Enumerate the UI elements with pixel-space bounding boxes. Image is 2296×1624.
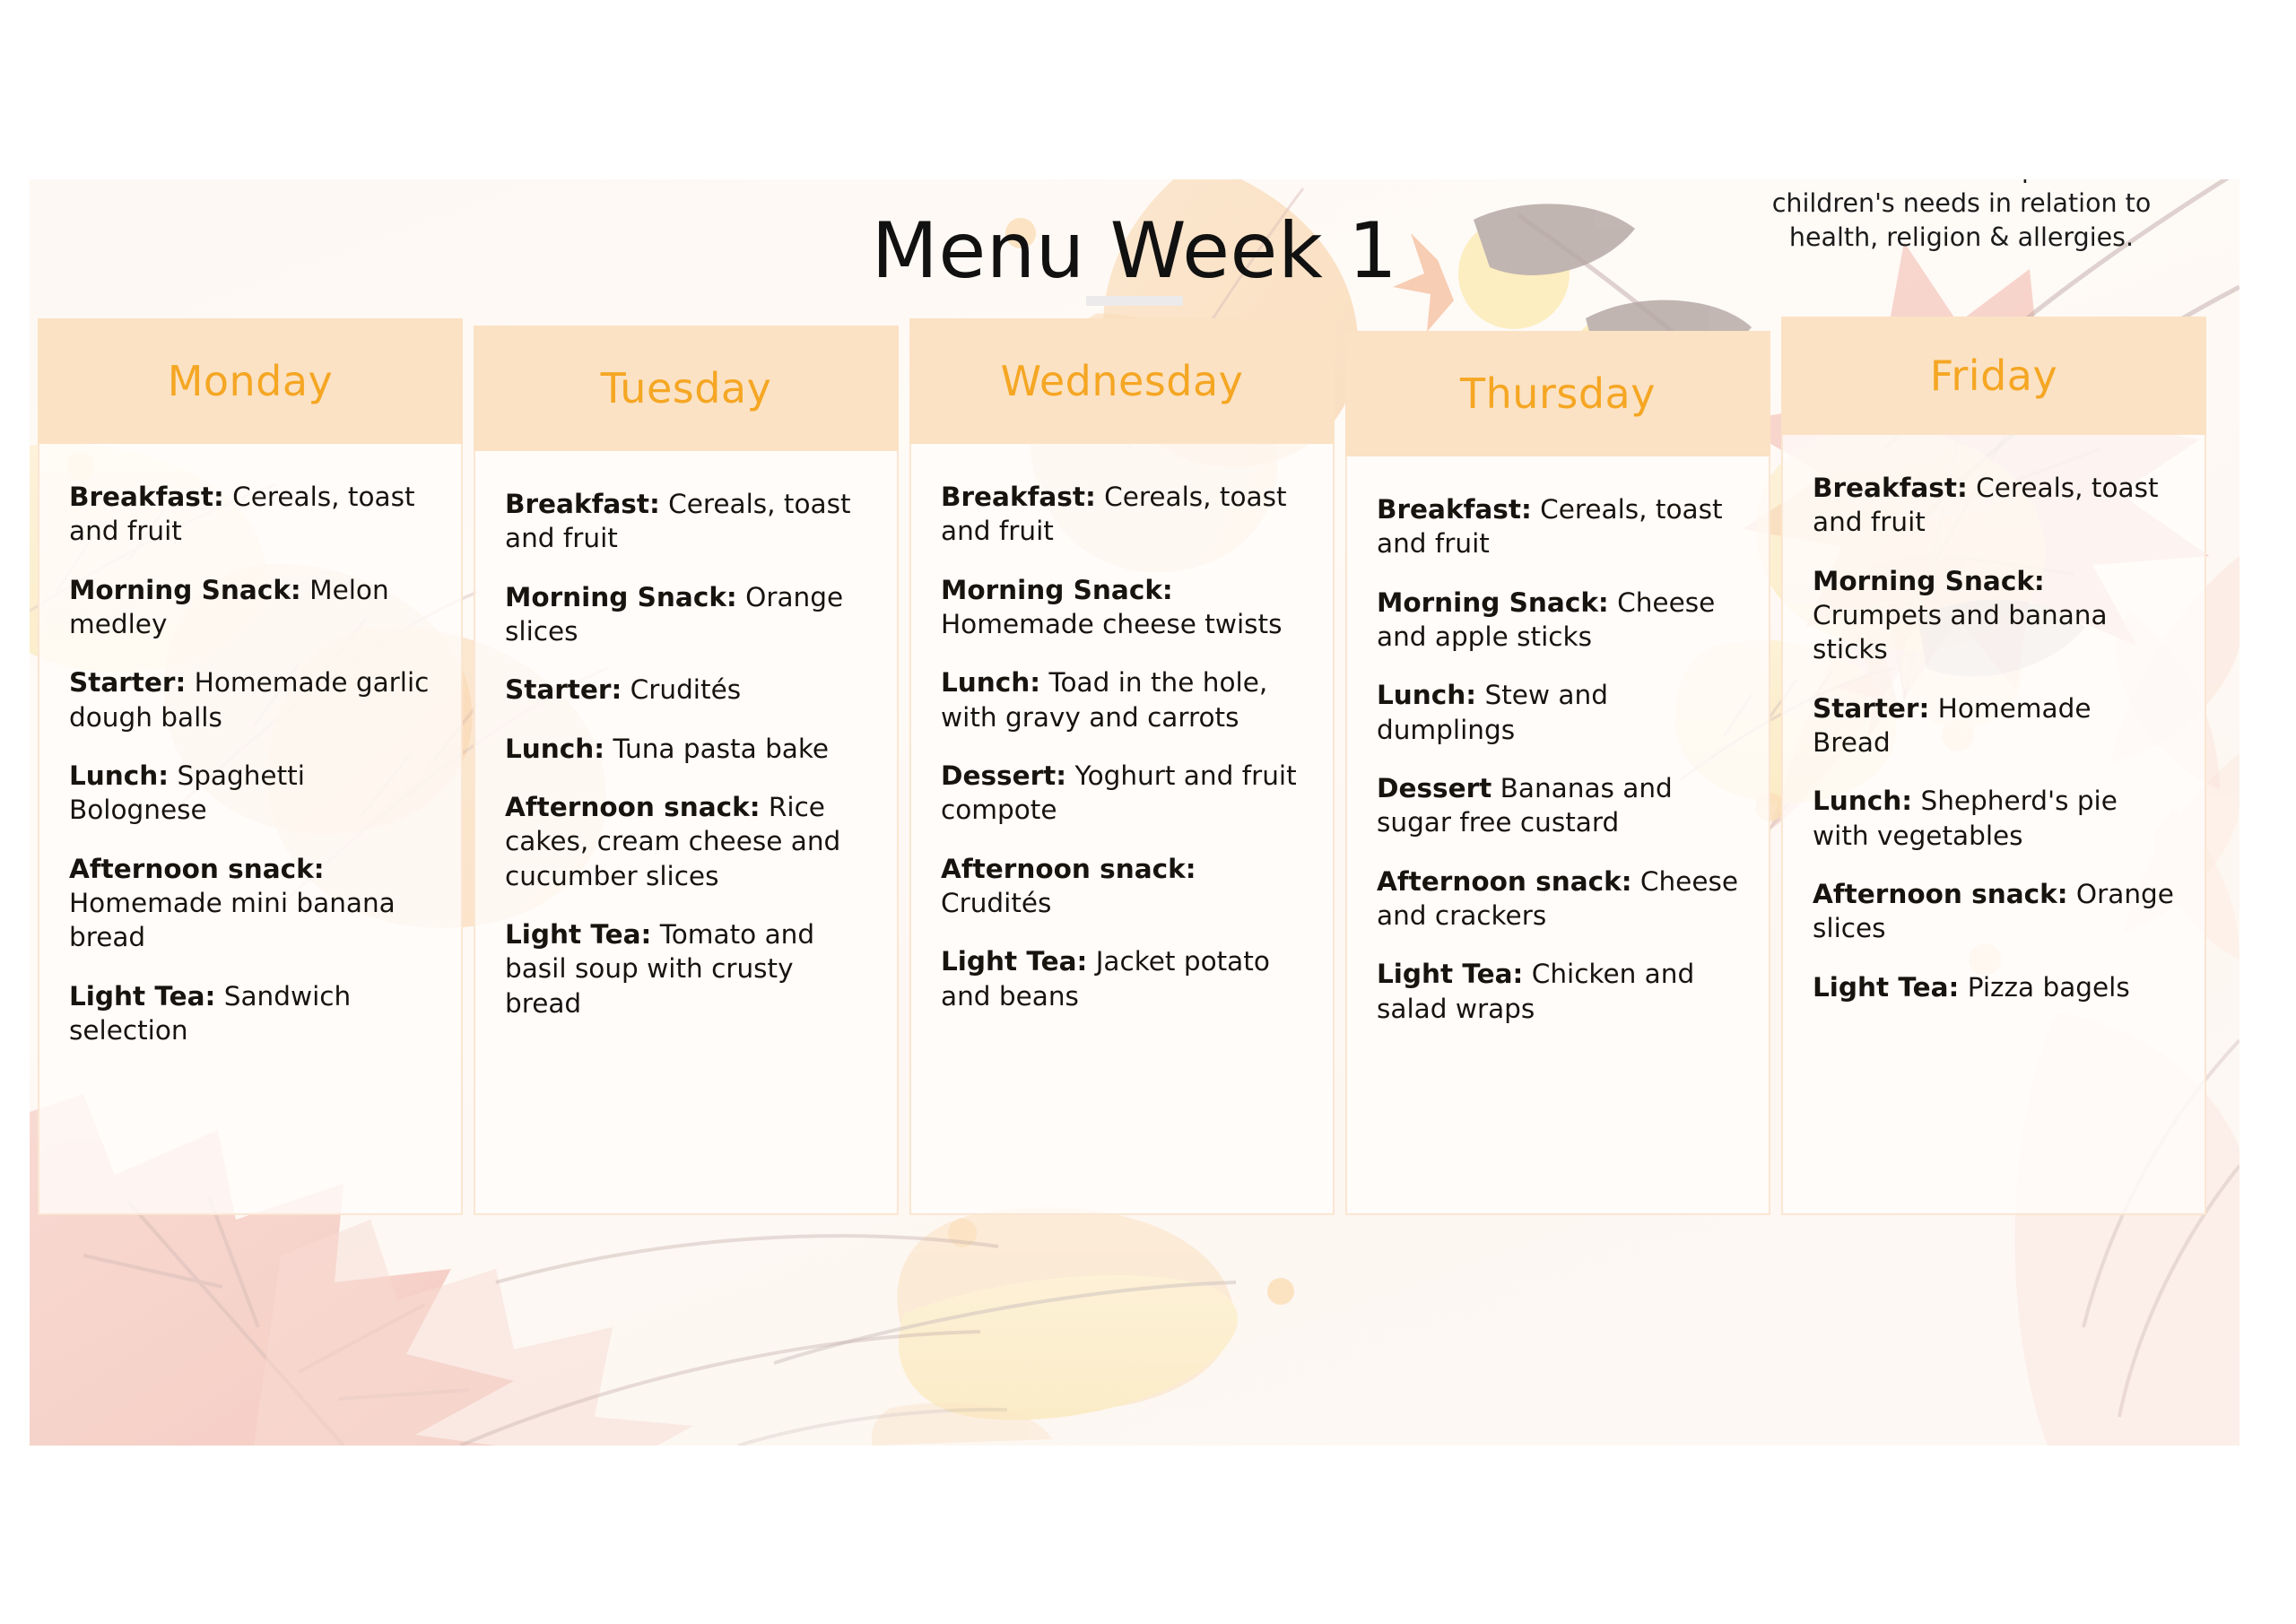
meal-item: Lunch: Spaghetti Bolognese xyxy=(69,759,431,828)
leaf-cream-bottomcenter-2 xyxy=(738,1403,1052,1446)
meal-item: Breakfast: Cereals, toast and fruit xyxy=(1377,492,1739,561)
day-card: Monday Breakfast: Cereals, toast and fru… xyxy=(38,318,463,1215)
meal-item: Breakfast: Cereals, toast and fruit xyxy=(505,487,867,556)
meal-label: Breakfast: xyxy=(505,489,660,519)
meal-item: Afternoon snack: Cheese and crackers xyxy=(1377,864,1739,934)
meal-item: Breakfast: Cereals, toast and fruit xyxy=(69,480,431,549)
day-name-wednesday: Wednesday xyxy=(1001,357,1244,405)
meal-label: Starter: xyxy=(69,667,186,698)
meal-value: Crudités xyxy=(941,888,1051,918)
meal-item: Morning Snack: Orange slices xyxy=(505,580,867,649)
meal-item: Breakfast: Cereals, toast and fruit xyxy=(941,480,1303,549)
day-card: Friday Breakfast: Cereals, toast and fru… xyxy=(1781,317,2206,1215)
meal-item: Afternoon snack: Crudités xyxy=(941,852,1303,921)
meal-item: Light Tea: Pizza bagels xyxy=(1813,970,2175,1004)
meal-item: Starter: Crudités xyxy=(505,673,867,707)
meal-label: Afternoon snack: xyxy=(1813,879,2068,909)
meal-item: Dessert Bananas and sugar free custard xyxy=(1377,771,1739,840)
meal-item: Lunch: Stew and dumplings xyxy=(1377,678,1739,747)
meal-label: Starter: xyxy=(1813,693,1929,724)
meal-item: Light Tea: Chicken and salad wraps xyxy=(1377,957,1739,1026)
meal-label: Afternoon snack: xyxy=(1377,866,1632,897)
meal-item: Starter: Homemade Bread xyxy=(1813,691,2175,760)
weekday-grid: Monday Breakfast: Cereals, toast and fru… xyxy=(38,318,2239,1215)
meal-value: Homemade mini banana bread xyxy=(69,888,396,952)
meal-label: Morning Snack: xyxy=(1813,566,2045,596)
day-meal-list: Breakfast: Cereals, toast and fruit Morn… xyxy=(1783,435,2205,1031)
day-card: Thursday Breakfast: Cereals, toast and f… xyxy=(1345,331,1770,1215)
meal-item: Afternoon snack: Homemade mini banana br… xyxy=(69,852,431,955)
day-header: Monday xyxy=(38,318,463,444)
meal-item: Morning Snack: Crumpets and banana stick… xyxy=(1813,564,2175,667)
meal-item: Morning Snack: Homemade cheese twists xyxy=(941,573,1303,642)
day-header: Wednesday xyxy=(909,318,1335,444)
meal-value: Crudités xyxy=(631,674,741,705)
meal-label: Morning Snack: xyxy=(69,575,301,605)
meal-label: Lunch: xyxy=(1813,786,1912,816)
meal-label: Light Tea: xyxy=(505,919,651,950)
day-meal-list: Breakfast: Cereals, toast and fruit Morn… xyxy=(1347,456,1769,1053)
day-header: Friday xyxy=(1781,317,2206,435)
day-meal-list: Breakfast: Cereals, toast and fruit Morn… xyxy=(475,451,897,1047)
day-meal-list: Breakfast: Cereals, toast and fruit Morn… xyxy=(39,444,461,1074)
meal-label: Lunch: xyxy=(941,667,1040,698)
day-column-tuesday: Tuesday Breakfast: Cereals, toast and fr… xyxy=(474,326,899,1215)
day-name-friday: Friday xyxy=(1930,352,2057,400)
day-name-tuesday: Tuesday xyxy=(601,364,772,413)
meal-item: Dessert: Yoghurt and fruit compote xyxy=(941,759,1303,828)
meal-label: Afternoon snack: xyxy=(69,854,325,884)
meal-item: Lunch: Shepherd's pie with vegetables xyxy=(1813,784,2175,853)
leaf-pink-maple-bottomleft-2 xyxy=(254,1220,693,1446)
meal-label: Lunch: xyxy=(69,760,169,791)
meal-item: Lunch: Tuna pasta bake xyxy=(505,732,867,766)
meal-label: Light Tea: xyxy=(1377,959,1523,989)
meal-label: Breakfast: xyxy=(69,482,224,512)
day-column-monday: Monday Breakfast: Cereals, toast and fru… xyxy=(38,318,463,1215)
day-name-monday: Monday xyxy=(168,357,334,405)
meal-item: Breakfast: Cereals, toast and fruit xyxy=(1813,471,2175,540)
meal-label: Dessert xyxy=(1377,773,1492,803)
meal-label: Morning Snack: xyxy=(505,582,737,612)
meal-label: Breakfast: xyxy=(1377,494,1532,525)
day-card: Wednesday Breakfast: Cereals, toast and … xyxy=(909,318,1335,1215)
meal-label: Afternoon snack: xyxy=(941,854,1196,884)
meal-value: Homemade cheese twists xyxy=(941,609,1283,639)
meal-item: Light Tea: Tomato and basil soup with cr… xyxy=(505,917,867,1020)
day-meal-list: Breakfast: Cereals, toast and fruit Morn… xyxy=(911,444,1333,1040)
title-divider xyxy=(1086,296,1183,306)
meal-label: Light Tea: xyxy=(1813,972,1959,1003)
meal-label: Light Tea: xyxy=(69,981,215,1012)
meal-value: Pizza bagels xyxy=(1968,972,2130,1003)
meal-item: Light Tea: Jacket potato and beans xyxy=(941,944,1303,1013)
meal-label: Lunch: xyxy=(1377,680,1476,710)
meal-label: Morning Snack: xyxy=(1377,587,1609,618)
leaf-cream-bottomcenter xyxy=(774,1207,1238,1420)
meal-item: Starter: Homemade garlic dough balls xyxy=(69,665,431,734)
meal-label: Light Tea: xyxy=(941,946,1087,977)
meal-label: Afternoon snack: xyxy=(505,792,761,822)
meal-label: Breakfast: xyxy=(941,482,1096,512)
meal-value: Crumpets and banana sticks xyxy=(1813,600,2108,664)
stem-bottomcenter xyxy=(460,1236,998,1446)
day-column-wednesday: Wednesday Breakfast: Cereals, toast and … xyxy=(909,318,1335,1215)
meal-item: Light Tea: Sandwich selection xyxy=(69,979,431,1048)
meal-label: Lunch: xyxy=(505,734,604,764)
day-card: Tuesday Breakfast: Cereals, toast and fr… xyxy=(474,326,899,1215)
meal-label: Morning Snack: xyxy=(941,575,1173,605)
meal-label: Breakfast: xyxy=(1813,473,1968,503)
day-column-friday: Friday Breakfast: Cereals, toast and fru… xyxy=(1781,317,2206,1215)
day-header: Thursday xyxy=(1345,331,1770,456)
day-header: Tuesday xyxy=(474,326,899,451)
meal-item: Morning Snack: Cheese and apple sticks xyxy=(1377,586,1739,655)
meal-item: Morning Snack: Melon medley xyxy=(69,573,431,642)
meal-label: Dessert: xyxy=(941,760,1066,791)
day-name-thursday: Thursday xyxy=(1460,369,1656,418)
meal-value: Tuna pasta bake xyxy=(613,734,829,764)
menu-poster: Menu Week 1 All meals are adapted for ch… xyxy=(30,179,2239,1446)
meal-item: Lunch: Toad in the hole, with gravy and … xyxy=(941,665,1303,734)
meal-label: Starter: xyxy=(505,674,622,705)
day-column-thursday: Thursday Breakfast: Cereals, toast and f… xyxy=(1345,331,1770,1215)
allergy-notice: All meals are adapted for children's nee… xyxy=(1751,179,2172,255)
meal-item: Afternoon snack: Rice cakes, cream chees… xyxy=(505,790,867,893)
meal-item: Afternoon snack: Orange slices xyxy=(1813,877,2175,946)
